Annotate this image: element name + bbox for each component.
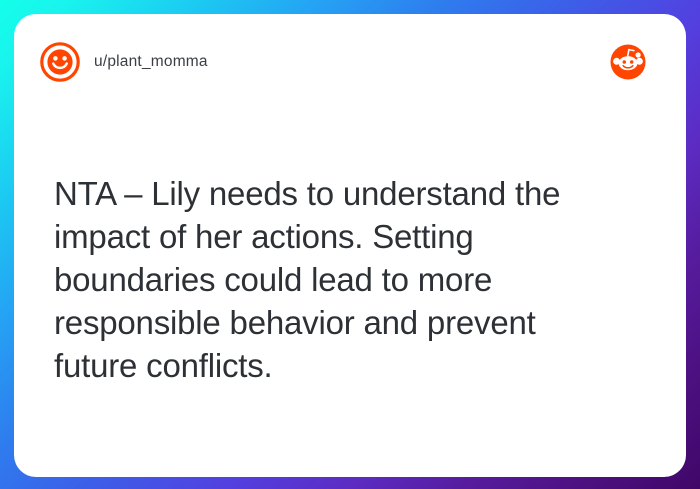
post-header: u/plant_momma: [40, 38, 660, 86]
post-card: u/plant_momma NTA – Lily needs to unders…: [14, 14, 686, 477]
username-label: u/plant_momma: [94, 53, 208, 71]
screenshot-canvas: u/plant_momma NTA – Lily needs to unders…: [0, 0, 700, 489]
reddit-snoo-logo-icon[interactable]: [608, 42, 648, 82]
post-body-text: NTA – Lily needs to understand the impac…: [54, 172, 624, 387]
smiley-face-avatar-icon[interactable]: [40, 42, 80, 82]
